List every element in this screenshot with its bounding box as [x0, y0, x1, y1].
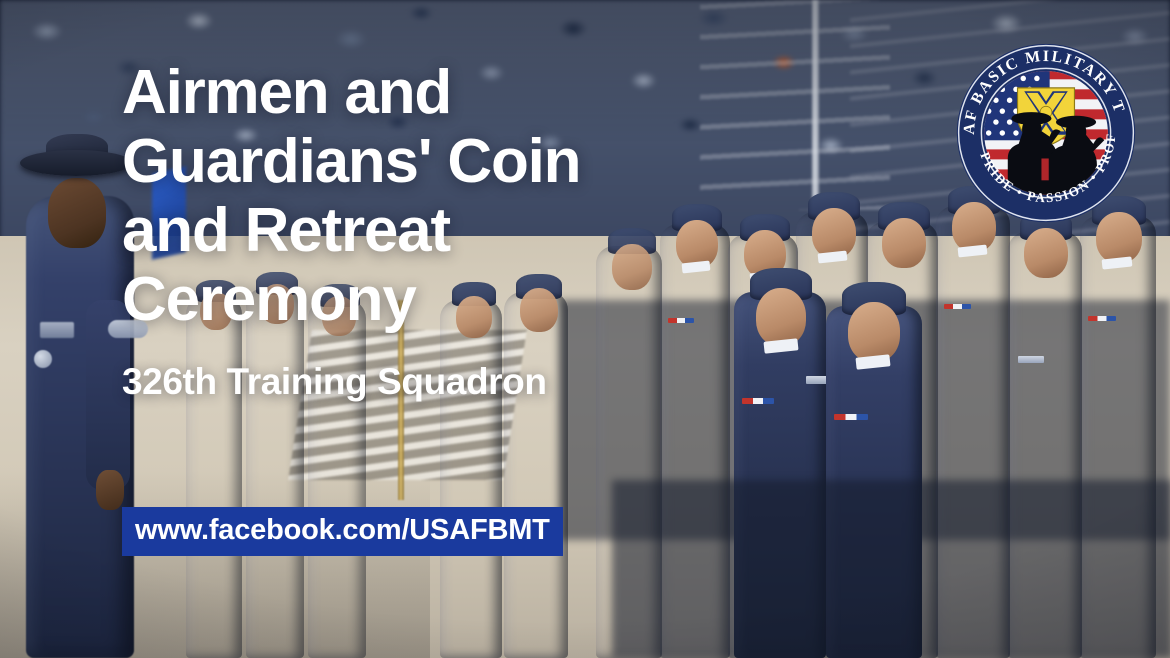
facebook-url-text: www.facebook.com/USAFBMT — [135, 515, 550, 546]
campaign-hat-brim — [20, 150, 132, 176]
subtitle: 326th Training Squadron — [122, 360, 547, 404]
instructor-ribbons — [40, 322, 74, 338]
af-basic-military-training-logo: AF BASIC MILITARY TRAINING PRIDE • PASSI… — [955, 42, 1137, 224]
instructor-head — [48, 178, 106, 248]
facebook-url-banner[interactable]: www.facebook.com/USAFBMT — [122, 507, 563, 556]
page-title: Airmen and Guardians' Coin and Retreat C… — [122, 58, 580, 334]
instructor-hand — [96, 470, 124, 510]
title-card: Airmen and Guardians' Coin and Retreat C… — [0, 0, 1170, 658]
instructor-medal — [34, 350, 52, 368]
